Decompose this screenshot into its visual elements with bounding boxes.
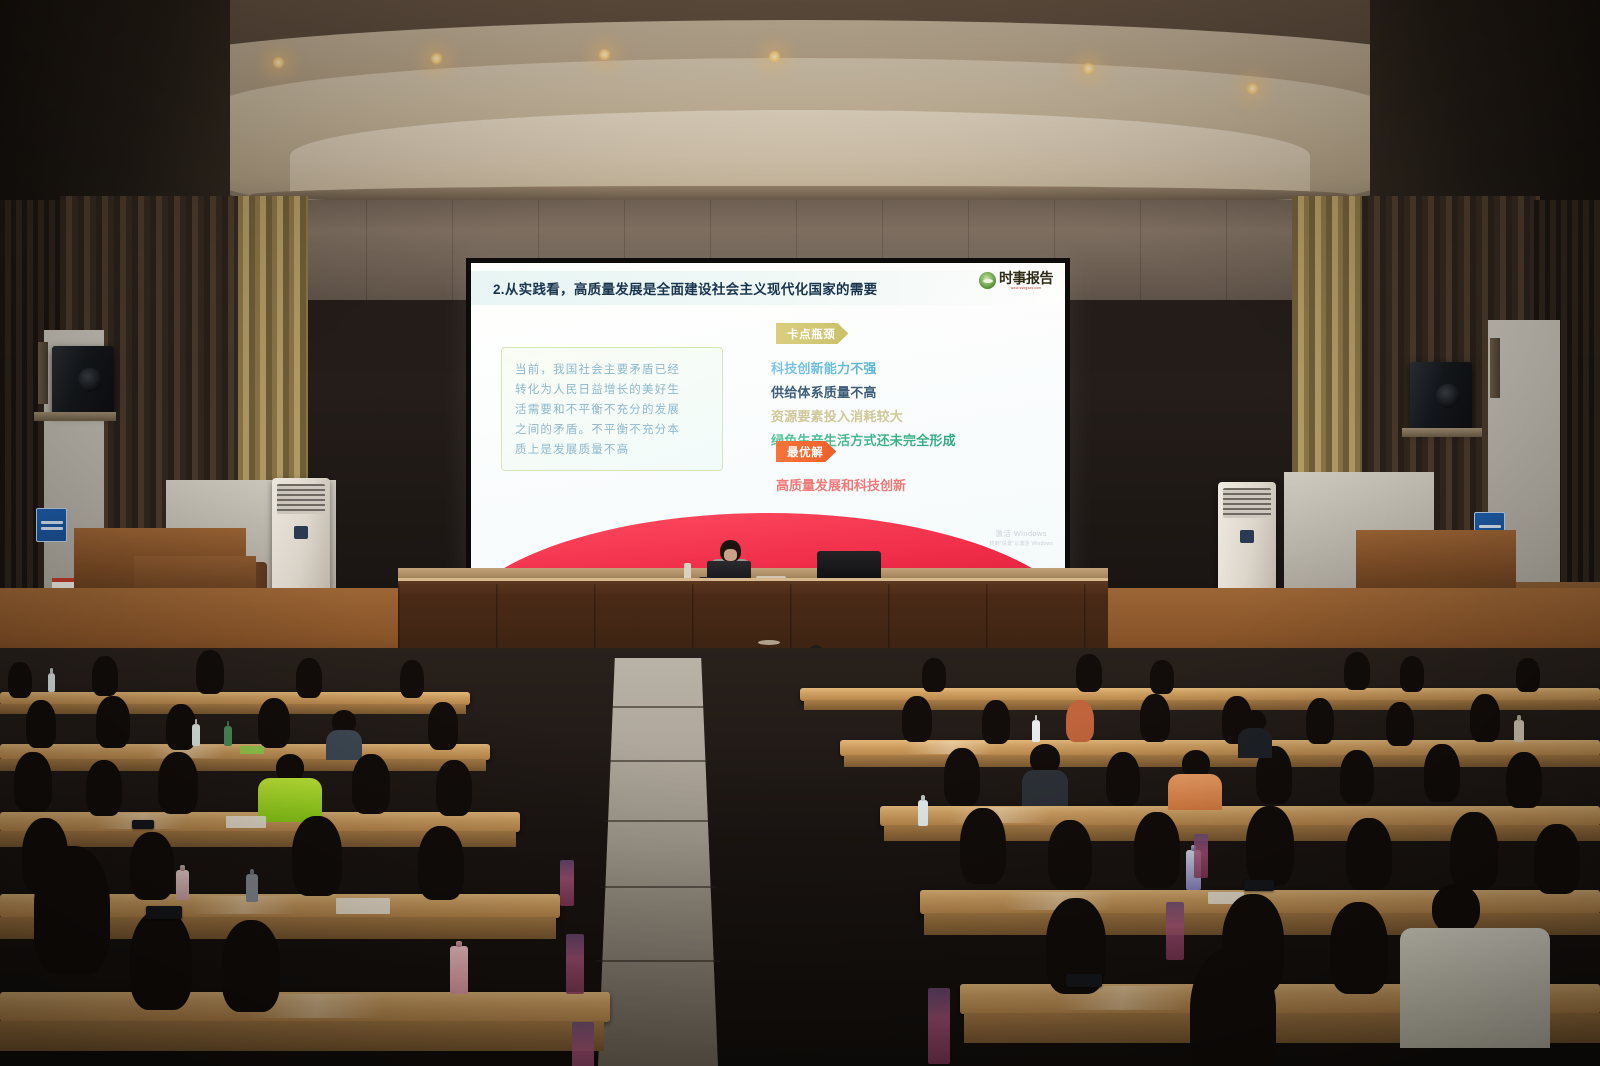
notebook [336,898,390,914]
thermos [176,870,189,900]
water-bottle [192,724,200,746]
seat-back [928,988,950,1064]
drink-cup [1514,720,1524,742]
smartphone [1244,880,1274,891]
water-bottle [246,874,258,902]
smartphone [146,906,182,919]
speaker-shelf-left [34,412,116,421]
eye-logo-icon [979,272,996,289]
bullet-item: 科技创新能力不强 [771,358,956,377]
audience-seating-area [0,648,1600,1066]
windows-activation-watermark: 激活 Windows 转到"设置"以激活 Windows [989,528,1053,547]
bullet-item: 供给体系质量不高 [771,382,956,401]
quote-line: 之间的矛盾。不平衡不充分本 [515,421,709,437]
seat-back [1166,902,1184,960]
stage-front-desk [398,578,1108,654]
bullet-list: 科技创新能力不强 供给体系质量不高 资源要素投入消耗较大 绿色生产生活方式还未完… [771,358,956,449]
slide-title: 2.从实践看，高质量发展是全面建设社会主义现代化国家的需要 [493,278,877,298]
snack-bag [240,746,264,754]
water-bottle [918,800,928,826]
seat-back [572,1022,594,1066]
watermark-line-2: 转到"设置"以激活 Windows [989,540,1053,547]
slide-content: 2.从实践看，高质量发展是全面建设社会主义现代化国家的需要 时事报告 www.s… [471,263,1065,585]
seat-back [560,860,574,906]
notebook [226,816,266,828]
water-bottle [48,673,55,692]
pink-thermos [450,946,468,994]
quotation-box: 当前，我国社会主要矛盾已经 转化为人民日益增长的美好生 活需要和不平衡不充分的发… [501,347,723,471]
quote-line: 转化为人民日益增长的美好生 [515,381,709,397]
quote-line: 质上是发展质量不高 [515,441,709,457]
ceiling-spotlight [430,52,443,65]
loudspeaker-left [52,346,114,414]
ceiling-spotlight [598,48,611,61]
speaker-bracket-right [1490,338,1500,398]
air-conditioner-right [1218,482,1276,602]
brand-name: 时事报告 [999,271,1053,285]
ceiling-spotlight [768,50,781,63]
wall-sign-left [36,508,67,542]
bench-desk-front [0,1021,604,1051]
slide-header-bar: 2.从实践看，高质量发展是全面建设社会主义现代化国家的需要 [471,271,1065,305]
seat-back [1194,834,1208,878]
bullet-item: 资源要素投入消耗较大 [771,406,956,425]
ceiling [0,0,1600,215]
loudspeaker-right [1410,362,1472,430]
tag-best-solution: 最优解 [776,441,836,462]
led-presentation-screen[interactable]: 2.从实践看，高质量发展是全面建设社会主义现代化国家的需要 时事报告 www.s… [466,258,1070,590]
quote-line: 当前，我国社会主要矛盾已经 [515,361,709,377]
speaker-shelf-right [1402,428,1482,437]
best-answer-text: 高质量发展和科技创新 [776,475,906,494]
water-bottle [1032,720,1040,742]
tag-bottleneck: 卡点瓶颈 [776,323,848,344]
seat-back [566,934,584,994]
lecture-hall-scene: 2.从实践看，高质量发展是全面建设社会主义现代化国家的需要 时事报告 www.s… [0,0,1600,1066]
center-aisle [598,658,718,1066]
smartphone [132,820,154,829]
ceiling-spotlight [1246,82,1259,95]
bench-desk-front [0,759,486,771]
quote-line: 活需要和不平衡不充分的发展 [515,401,709,417]
bench-desk-front [0,704,466,714]
air-conditioner-left [272,478,330,598]
ceiling-spotlight [272,56,285,69]
floor-cable [758,640,780,645]
water-bottle [224,726,232,746]
watermark-line-1: 激活 Windows [989,528,1053,539]
smartphone [1066,974,1102,987]
ceiling-spotlight [1082,62,1095,75]
brand-url: www.ssbgzzs.com [1011,286,1042,290]
publisher-logo: 时事报告 www.ssbgzzs.com [979,271,1053,290]
speaker-bracket-left [38,342,48,404]
